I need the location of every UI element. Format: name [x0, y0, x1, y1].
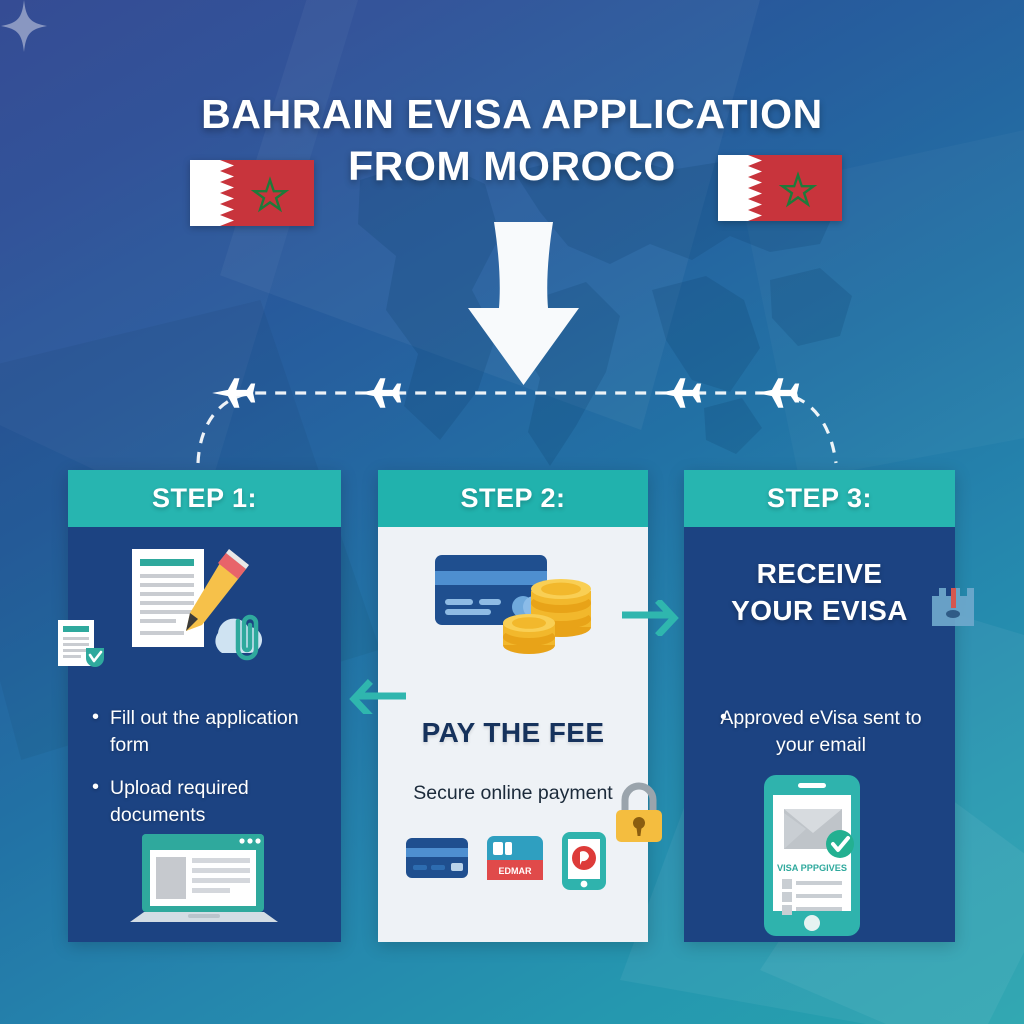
cloud-upload-attachment-icon: [215, 617, 262, 658]
airplane-icon: [756, 378, 799, 407]
step-3-header: STEP 3:: [684, 470, 955, 527]
sparkle-icon: [0, 0, 48, 52]
credit-card-coins-icon: [433, 549, 601, 659]
airplane-icon: [358, 378, 401, 407]
step-2-header: STEP 2:: [378, 470, 648, 527]
mobile-payment-icon: [562, 832, 606, 890]
credit-card-blue-icon: [406, 838, 468, 878]
step-3-title: RECEIVE YOUR EVISA: [684, 555, 955, 629]
step-2-panel[interactable]: STEP 2:: [378, 470, 648, 942]
dashed-flight-path: [180, 355, 860, 465]
list-item: Approved eVisa sent to your email: [706, 705, 936, 759]
step-3-title-line-2: YOUR EVISA: [731, 595, 908, 626]
title-line-2: FROM MOROCO: [0, 140, 1024, 192]
infographic-poster: BAHRAIN EVISA APPLICATION FROM MOROCO: [0, 0, 1024, 1024]
step-2-body: PAY THE FEE Secure online payment: [378, 527, 648, 942]
step-2-title: PAY THE FEE: [378, 717, 648, 749]
step-3-panel[interactable]: STEP 3: RECEIVE YOUR EVISA Approved eVis…: [684, 470, 955, 942]
step-3-title-line-1: RECEIVE: [757, 558, 883, 589]
phone-visa-label: VISA PPPGIVES: [777, 863, 847, 873]
bahrain-morocco-hybrid-flag-left: [190, 160, 314, 226]
card-label: EDMAR: [499, 866, 532, 876]
list-item: Fill out the application form: [92, 705, 324, 759]
smartphone-email-approved-icon: VISA PPPGIVES: [762, 773, 862, 938]
approved-check-badge: [826, 830, 854, 858]
document-pencil-icon: [130, 547, 275, 667]
arrow-right-icon: [622, 600, 692, 636]
step-3-bullet-list: Approved eVisa sent to your email: [706, 705, 936, 759]
bahrain-morocco-hybrid-flag-right: [718, 155, 842, 221]
title-line-1: BAHRAIN EVISA APPLICATION: [201, 91, 823, 137]
step-1-header: STEP 1:: [68, 470, 341, 527]
page-title: BAHRAIN EVISA APPLICATION FROM MOROCO: [0, 88, 1024, 192]
list-item: Upload required documents: [92, 775, 324, 829]
document-verified-icon: [56, 618, 108, 670]
step-1-panel[interactable]: STEP 1:: [68, 470, 341, 942]
step-1-bullet-list: Fill out the application form Upload req…: [92, 705, 324, 845]
arrow-left-icon: [336, 678, 406, 714]
credit-card-red-icon: EDMAR: [487, 836, 543, 880]
payment-methods-row: EDMAR: [404, 832, 624, 890]
padlock-icon: [608, 778, 670, 846]
airplane-icon: [212, 378, 255, 407]
airplane-icon: [658, 378, 701, 407]
laptop-browser-icon: [130, 832, 278, 930]
step-1-body: Fill out the application form Upload req…: [68, 527, 341, 942]
step-3-body: RECEIVE YOUR EVISA Approved eVisa sent t…: [684, 527, 955, 942]
fort-stamp-icon: [928, 582, 978, 630]
